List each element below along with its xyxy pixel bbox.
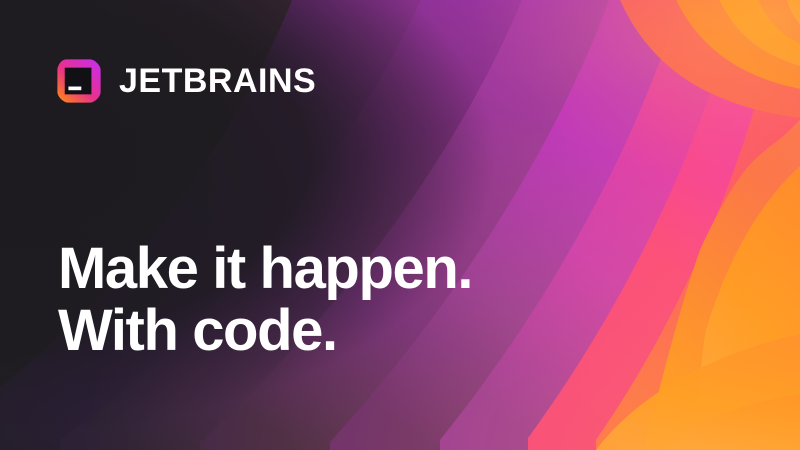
jetbrains-promo-banner: JETBRAINS Make it happen. With code. (0, 0, 800, 450)
headline-line-2: With code. (58, 300, 472, 362)
jetbrains-logo-lockup: JETBRAINS (56, 58, 316, 104)
jetbrains-logo-icon (56, 58, 102, 104)
jetbrains-wordmark: JETBRAINS (119, 64, 316, 98)
headline-line-1: Make it happen. (58, 238, 472, 300)
headline: Make it happen. With code. (58, 238, 472, 362)
banner-content: JETBRAINS Make it happen. With code. (0, 0, 800, 450)
